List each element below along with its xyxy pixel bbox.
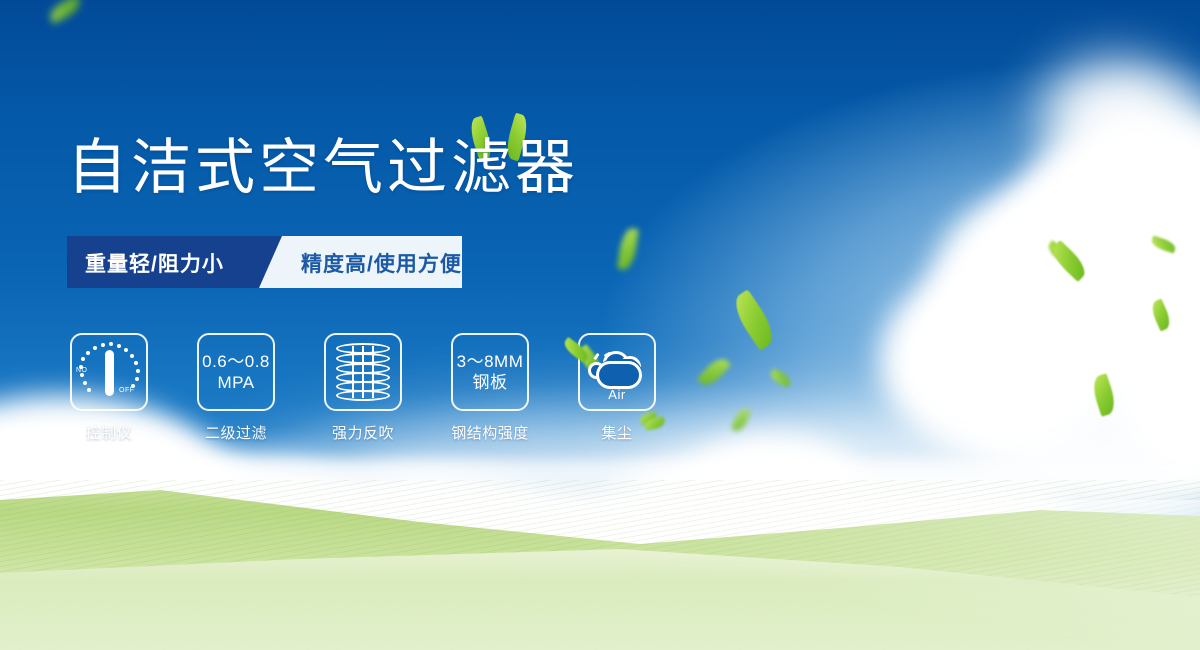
feature-item-controller[interactable]: NO OFF 控制仪 [67,333,151,443]
feature-label: 集尘 [601,422,632,443]
page-title: 自洁式空气过滤器 [67,138,579,198]
gauge-label-no: NO [76,367,88,374]
feature-icon-box: 0.6～0.8 MPA [197,333,275,411]
feature-icon-box [324,333,402,411]
subtitle-left-text: 重量轻/阻力小 [85,248,224,278]
feature-icon-box: 3～8MM 钢板 [451,333,529,411]
feature-icon-box: NO OFF [70,333,148,411]
feature-label: 二级过滤 [205,422,267,443]
gauge-indicator [105,350,114,396]
subtitle-right-panel: 精度高/使用方便 [259,236,462,288]
product-banner: 自洁式空气过滤器 重量轻/阻力小 精度高/使用方便 [0,0,1200,650]
steel-plate-text-icon: 3～8MM 钢板 [457,351,524,393]
feature-label: 控制仪 [86,422,133,443]
subtitle-right-text: 精度高/使用方便 [301,248,462,278]
pressure-text-icon: 0.6～0.8 MPA [202,351,270,393]
pressure-unit: MPA [202,372,270,393]
feature-label: 强力反吹 [332,422,394,443]
feature-item-secondary-filter[interactable]: 0.6～0.8 MPA 二级过滤 [194,333,278,443]
gauge-label-off: OFF [119,387,135,394]
feature-icon-box: Air [578,333,656,411]
filter-stack-icon [336,343,390,401]
steel-material: 钢板 [457,372,524,393]
subtitle-bar: 重量轻/阻力小 精度高/使用方便 [67,236,462,288]
pressure-value: 0.6～0.8 [202,351,270,372]
air-label: Air [586,387,648,402]
feature-label: 钢结构强度 [451,422,529,443]
subtitle-left-panel: 重量轻/阻力小 [67,236,282,288]
feature-item-steel-strength[interactable]: 3～8MM 钢板 钢结构强度 [448,333,532,443]
gauge-icon: NO OFF [75,340,143,404]
cloud-air-icon: Air [586,345,648,399]
steel-thickness: 3～8MM [457,351,524,372]
feature-item-blowback[interactable]: 强力反吹 [321,333,405,443]
